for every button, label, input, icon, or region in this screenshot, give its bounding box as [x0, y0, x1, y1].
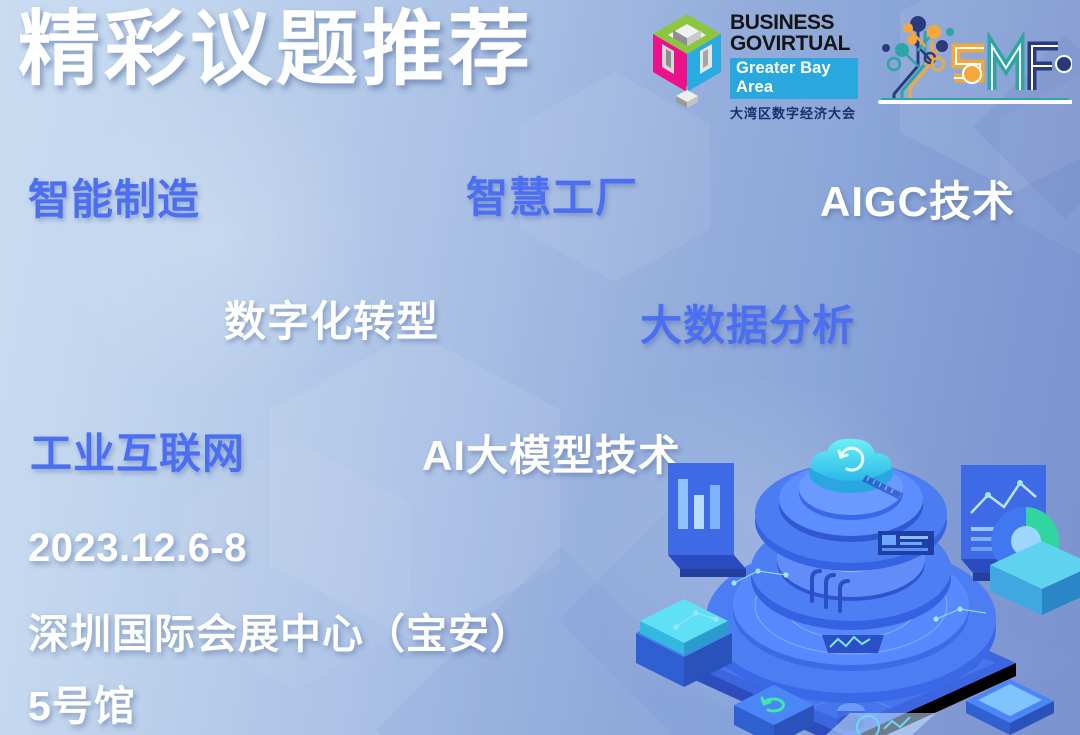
- business-govirtual-text: BUSINESS GOVIRTUAL Greater Bay Area 大湾区数…: [730, 8, 858, 122]
- logo-band-greater-bay-area: Greater Bay Area: [730, 58, 858, 99]
- event-hall: 5号馆: [28, 672, 136, 732]
- topic-item-4[interactable]: 大数据分析: [640, 292, 855, 353]
- logo-chinese-subtitle: 大湾区数字经济大会: [730, 103, 858, 122]
- topic-item-1[interactable]: 智慧工厂: [466, 164, 638, 225]
- event-date: 2023.12.6-8: [28, 526, 247, 571]
- topic-item-3[interactable]: 数字化转型: [224, 288, 439, 349]
- topic-item-2[interactable]: AIGC技术: [820, 168, 1015, 229]
- smf-logo: [872, 2, 1072, 114]
- isometric-cloud-platform-illustration: [616, 413, 1080, 735]
- govirtual-cube-icon: [648, 8, 726, 108]
- topic-item-0[interactable]: 智能制造: [28, 166, 200, 227]
- logo-line-govirtual: GOVIRTUAL: [730, 33, 858, 54]
- logo-line-business: BUSINESS: [730, 12, 858, 33]
- bg-hexagon-4: [270, 332, 560, 642]
- business-govirtual-logo: BUSINESS GOVIRTUAL Greater Bay Area 大湾区数…: [648, 8, 858, 114]
- topic-item-5[interactable]: 工业互联网: [30, 420, 245, 481]
- page-title: 精彩议题推荐: [18, 6, 534, 95]
- event-venue: 深圳国际会展中心（宝安）: [28, 600, 532, 660]
- topic-recommendation-poster: 精彩议题推荐: [0, 0, 1080, 735]
